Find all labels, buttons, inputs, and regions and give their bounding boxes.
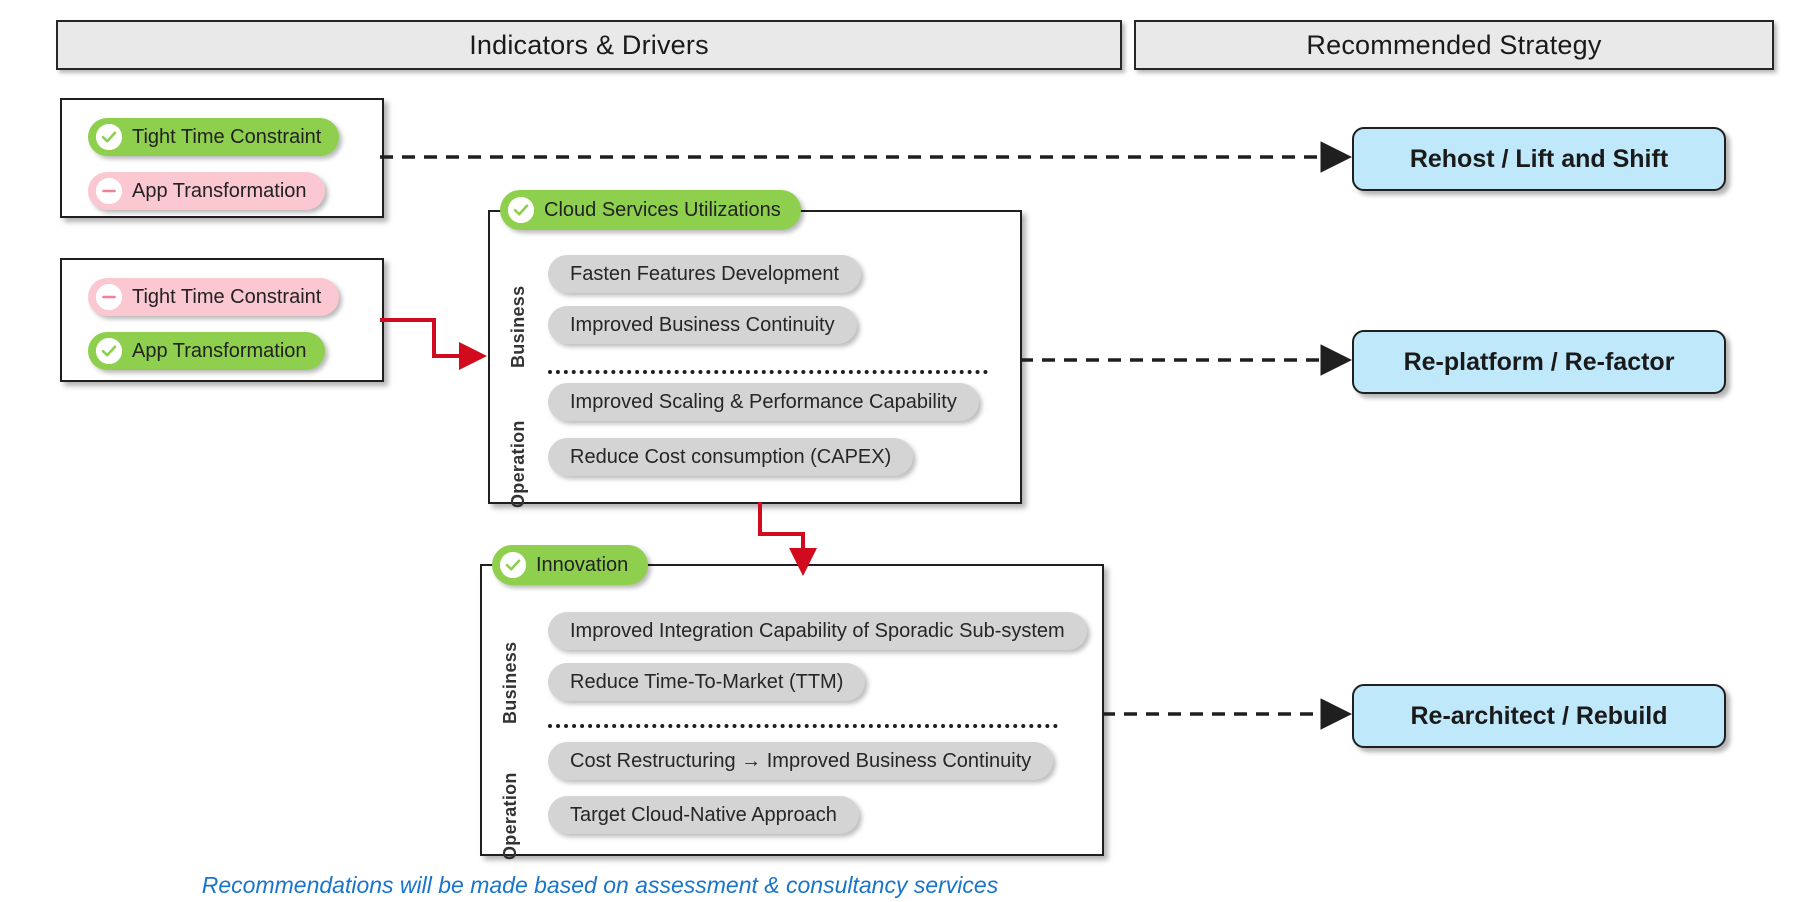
footer-note-text: Recommendations will be made based on as… (202, 872, 998, 898)
minus-icon (96, 284, 122, 310)
strategy-label: Re-platform / Re-factor (1404, 348, 1675, 377)
header-indicators-and-drivers: Indicators & Drivers (56, 20, 1122, 70)
strategy-box-rearchitect[interactable]: Re-architect / Rebuild (1352, 684, 1726, 748)
minus-icon (96, 178, 122, 204)
driver-pill-label: Tight Time Constraint (132, 286, 321, 309)
item-chip[interactable]: Reduce Time-To-Market (TTM) (548, 663, 865, 701)
header-indicators-label: Indicators & Drivers (469, 30, 709, 61)
category-title-label: Cloud Services Utilizations (544, 199, 781, 222)
check-icon (96, 338, 122, 364)
driver-pill-tight-time-constraint-no[interactable]: Tight Time Constraint (88, 278, 339, 316)
strategy-box-replatform[interactable]: Re-platform / Re-factor (1352, 330, 1726, 394)
item-chip[interactable]: Reduce Cost consumption (CAPEX) (548, 438, 913, 476)
check-icon (500, 552, 526, 578)
diagram-canvas: Indicators & Drivers Recommended Strateg… (0, 0, 1820, 902)
category-title-label: Innovation (536, 554, 628, 577)
item-chip[interactable]: Fasten Features Development (548, 255, 861, 293)
section-label-business: Business (508, 248, 529, 368)
section-label-operation: Operation (500, 744, 521, 860)
connector-group2-to-cloud (380, 320, 481, 356)
driver-pill-tight-time-constraint-yes[interactable]: Tight Time Constraint (88, 118, 339, 156)
section-label-operation: Operation (508, 392, 529, 508)
item-chip[interactable]: Improved Scaling & Performance Capabilit… (548, 383, 979, 421)
driver-pill-label: App Transformation (132, 340, 307, 363)
item-chip[interactable]: Improved Business Continuity (548, 306, 857, 344)
item-chip[interactable]: Cost Restructuring → Improved Business C… (548, 742, 1053, 780)
header-recommended-strategy: Recommended Strategy (1134, 20, 1774, 70)
header-strategy-label: Recommended Strategy (1306, 30, 1601, 61)
check-icon (96, 124, 122, 150)
strategy-box-rehost[interactable]: Rehost / Lift and Shift (1352, 127, 1726, 191)
driver-pill-app-transformation-yes[interactable]: App Transformation (88, 332, 325, 370)
check-icon (508, 197, 534, 223)
driver-pill-label: Tight Time Constraint (132, 126, 321, 149)
footer-note: Recommendations will be made based on as… (0, 872, 1200, 899)
strategy-label: Re-architect / Rebuild (1411, 702, 1668, 731)
section-label-business: Business (500, 604, 521, 724)
driver-pill-label: App Transformation (132, 180, 307, 203)
item-chip[interactable]: Improved Integration Capability of Spora… (548, 612, 1087, 650)
connector-cloud-to-innovation (760, 502, 803, 570)
category-section-divider (548, 724, 1058, 728)
strategy-label: Rehost / Lift and Shift (1410, 145, 1668, 174)
category-section-divider (548, 370, 988, 374)
category-title-cloud-services[interactable]: Cloud Services Utilizations (500, 190, 801, 230)
item-chip[interactable]: Target Cloud-Native Approach (548, 796, 859, 834)
category-title-innovation[interactable]: Innovation (492, 545, 648, 585)
driver-pill-app-transformation-no[interactable]: App Transformation (88, 172, 325, 210)
